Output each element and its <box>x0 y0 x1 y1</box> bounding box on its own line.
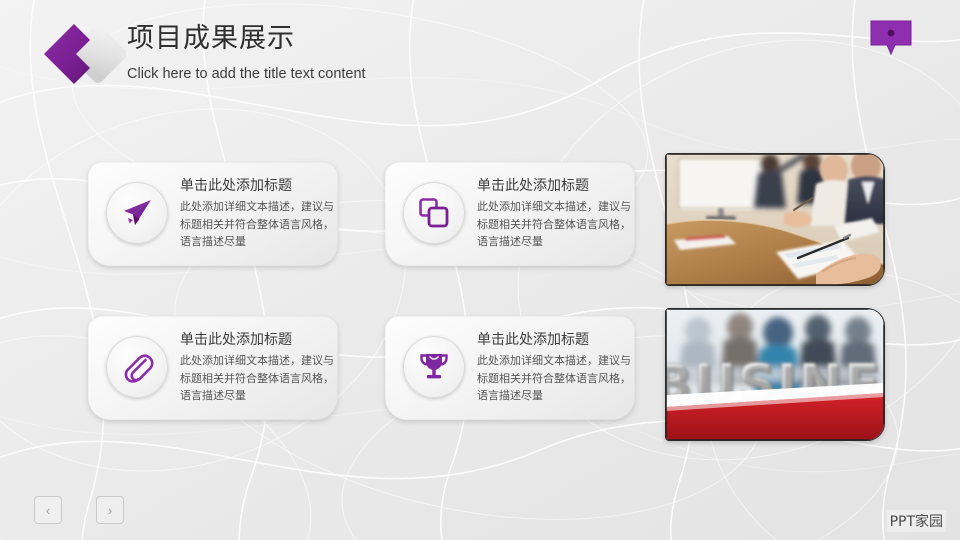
feature-card-2[interactable]: 单击此处添加标题 此处添加详细文本描述，建议与标题相关并符合整体语言风格，语言描… <box>385 162 635 266</box>
paper-plane-icon <box>106 182 168 244</box>
prev-slide-button[interactable]: ‹ <box>34 496 62 524</box>
card-description: 此处添加详细文本描述，建议与标题相关并符合整体语言风格，语言描述尽量 <box>180 352 338 405</box>
chevron-left-icon: ‹ <box>46 504 50 517</box>
trophy-icon <box>403 336 465 398</box>
chevron-right-icon: › <box>108 504 112 517</box>
chevron-diamond-logo <box>38 18 126 90</box>
feature-card-3[interactable]: 单击此处添加标题 此处添加详细文本描述，建议与标题相关并符合整体语言风格，语言描… <box>88 316 338 420</box>
feature-card-1[interactable]: 单击此处添加标题 此处添加详细文本描述，建议与标题相关并符合整体语言风格，语言描… <box>88 162 338 266</box>
slide-canvas: 项目成果展示 Click here to add the title text … <box>0 0 960 540</box>
business-letters-photo[interactable]: BUSINESS BUSINESS <box>665 308 885 441</box>
title-block: 项目成果展示 Click here to add the title text … <box>127 22 366 83</box>
card-title: 单击此处添加标题 <box>180 330 324 350</box>
feature-card-4[interactable]: 单击此处添加标题 此处添加详细文本描述，建议与标题相关并符合整体语言风格，语言描… <box>385 316 635 420</box>
card-title: 单击此处添加标题 <box>477 330 621 350</box>
slide-header: 项目成果展示 Click here to add the title text … <box>0 0 960 100</box>
purple-tag-badge-icon <box>870 20 912 56</box>
card-text-4: 单击此处添加标题 此处添加详细文本描述，建议与标题相关并符合整体语言风格，语言描… <box>477 330 621 405</box>
next-slide-button[interactable]: › <box>96 496 124 524</box>
card-title: 单击此处添加标题 <box>180 176 324 196</box>
card-description: 此处添加详细文本描述，建议与标题相关并符合整体语言风格，语言描述尽量 <box>477 352 635 405</box>
page-title: 项目成果展示 <box>127 22 366 56</box>
card-description: 此处添加详细文本描述，建议与标题相关并符合整体语言风格，语言描述尽量 <box>180 198 338 251</box>
meeting-notes-photo[interactable] <box>665 153 885 286</box>
card-description: 此处添加详细文本描述，建议与标题相关并符合整体语言风格，语言描述尽量 <box>477 198 635 251</box>
watermark-label: PPT家园 <box>887 510 946 532</box>
paperclip-icon <box>106 336 168 398</box>
copy-layers-icon <box>403 182 465 244</box>
card-title: 单击此处添加标题 <box>477 176 621 196</box>
card-text-1: 单击此处添加标题 此处添加详细文本描述，建议与标题相关并符合整体语言风格，语言描… <box>180 176 324 251</box>
card-text-3: 单击此处添加标题 此处添加详细文本描述，建议与标题相关并符合整体语言风格，语言描… <box>180 330 324 405</box>
page-subtitle: Click here to add the title text content <box>127 65 366 83</box>
card-text-2: 单击此处添加标题 此处添加详细文本描述，建议与标题相关并符合整体语言风格，语言描… <box>477 176 621 251</box>
